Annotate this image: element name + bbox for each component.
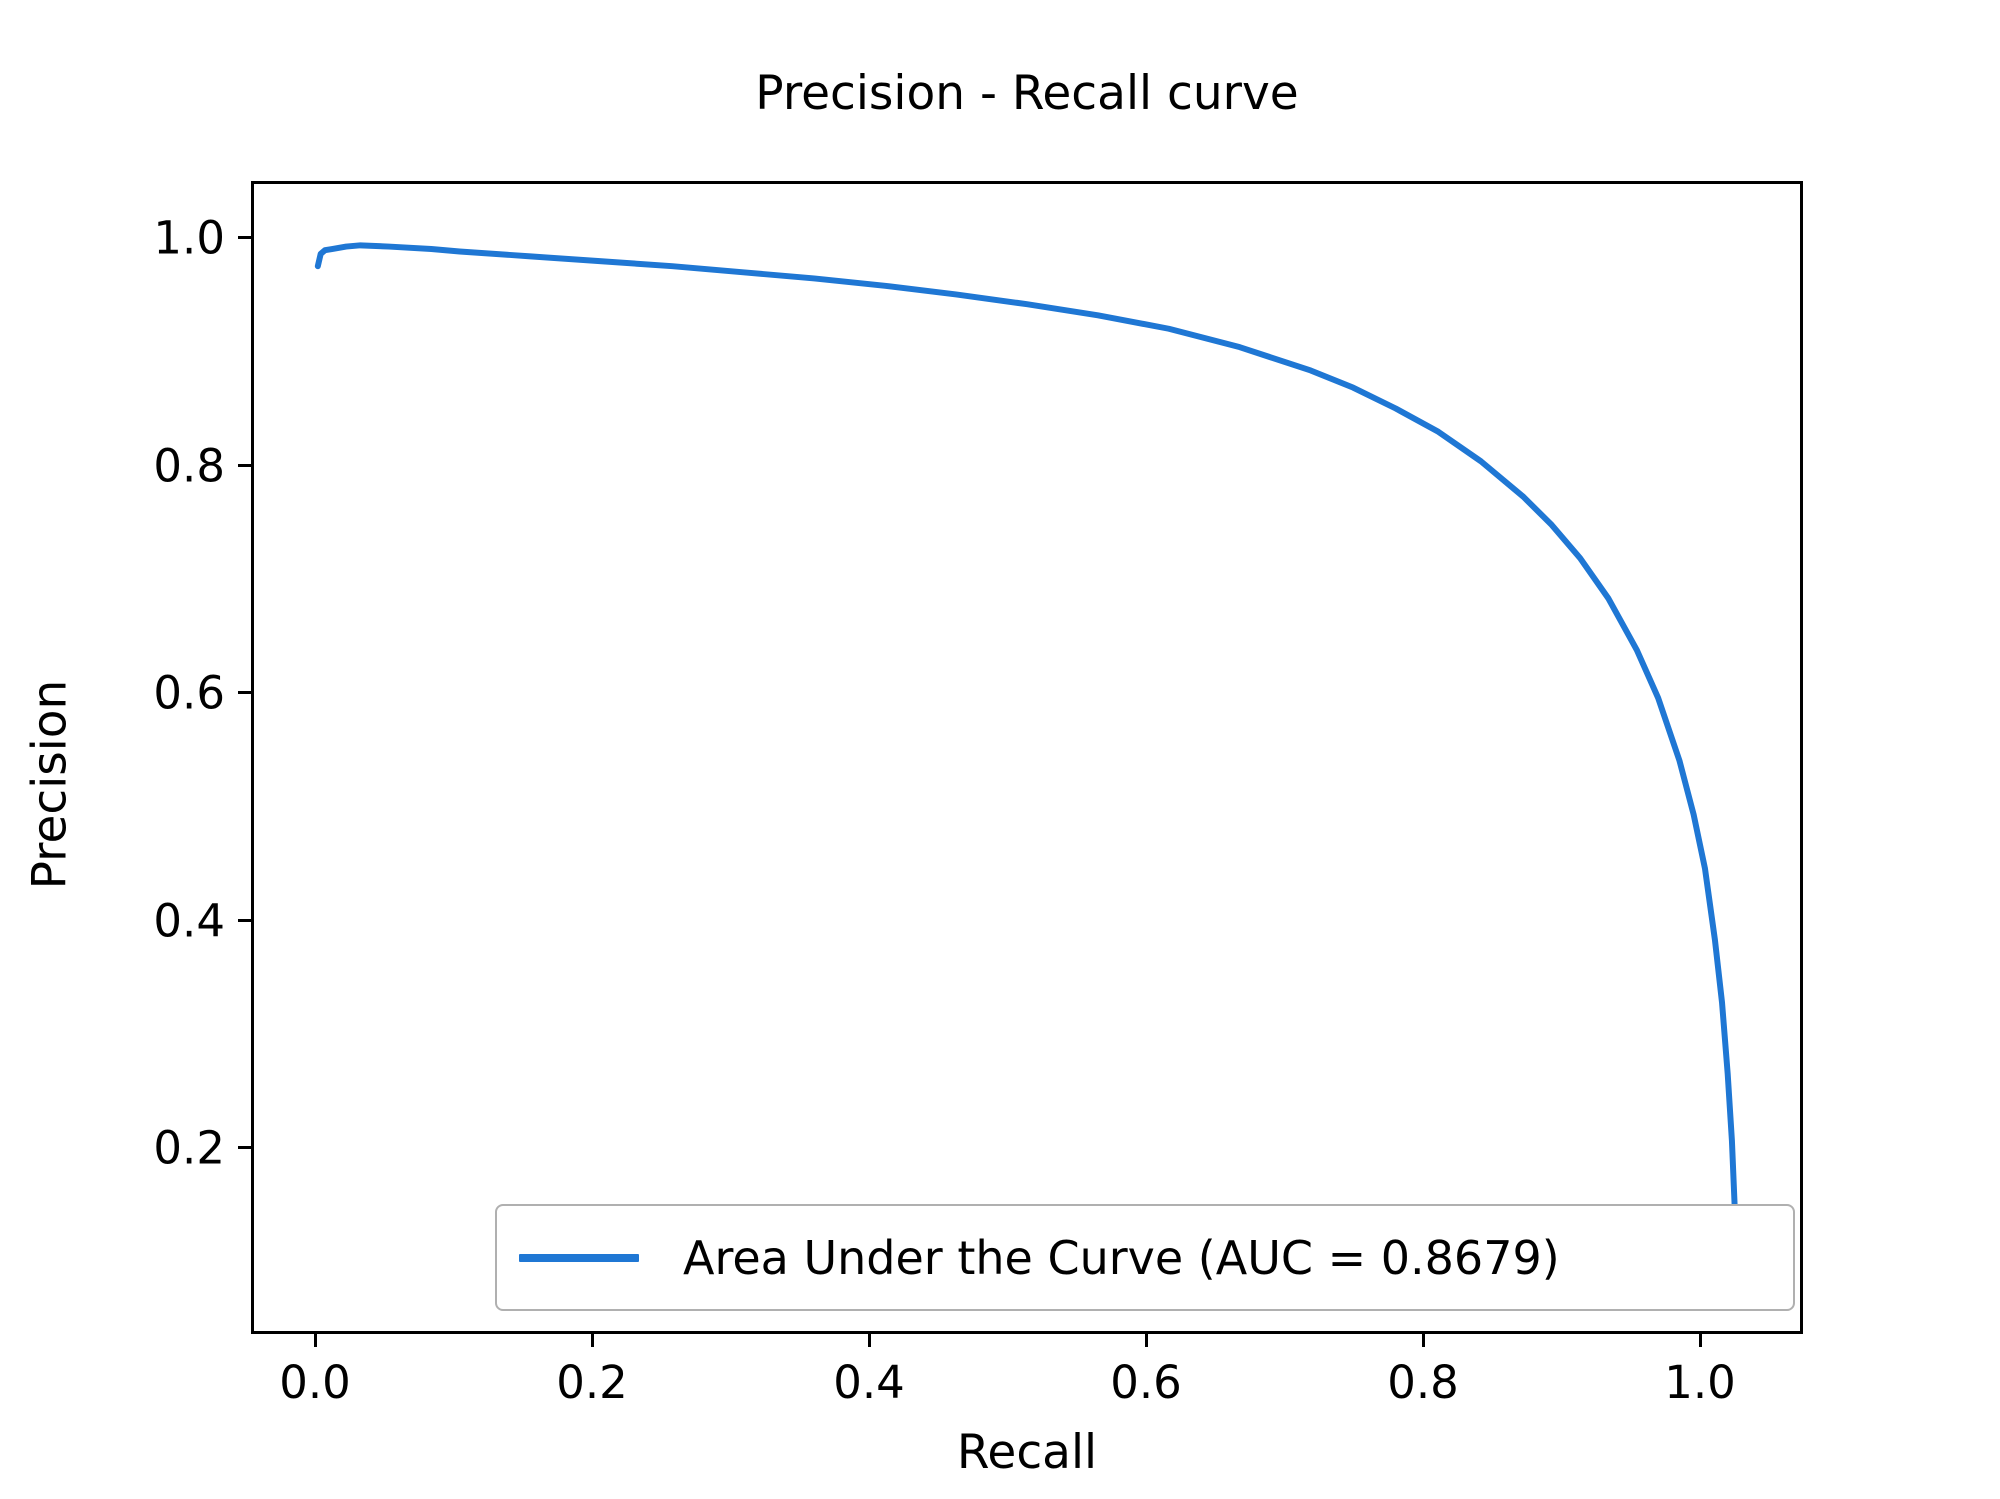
y-tick-mark-1: [238, 919, 251, 922]
precision-recall-chart-figure: Precision - Recall curve 0.0 0.2 0.4 0.6…: [0, 0, 2000, 1499]
x-tick-label-1: 0.2: [556, 1356, 628, 1409]
y-axis-label: Precision: [23, 585, 78, 985]
precision-recall-curve-svg: [254, 184, 1800, 1331]
y-tick-mark-0: [238, 1146, 251, 1149]
x-tick-label-4: 0.8: [1387, 1356, 1459, 1409]
x-tick-mark-5: [1699, 1334, 1702, 1347]
x-axis-label: Recall: [251, 1425, 1803, 1480]
y-tick-mark-3: [238, 464, 251, 467]
y-tick-label-4: 1.0: [153, 212, 225, 265]
x-tick-mark-4: [1422, 1334, 1425, 1347]
x-tick-mark-3: [1145, 1334, 1148, 1347]
chart-title: Precision - Recall curve: [251, 68, 1803, 120]
y-tick-mark-4: [238, 236, 251, 239]
x-tick-label-2: 0.4: [833, 1356, 905, 1409]
y-tick-label-3: 0.8: [153, 440, 225, 493]
y-tick-label-1: 0.4: [153, 895, 225, 948]
y-tick-mark-2: [238, 691, 251, 694]
chart-legend[interactable]: Area Under the Curve (AUC = 0.8679): [495, 1204, 1795, 1311]
x-tick-mark-1: [591, 1334, 594, 1347]
legend-entry-label: Area Under the Curve (AUC = 0.8679): [683, 1231, 1560, 1285]
legend-color-swatch: [519, 1254, 639, 1262]
x-tick-label-5: 1.0: [1664, 1356, 1736, 1409]
y-tick-label-0: 0.2: [153, 1122, 225, 1175]
x-tick-label-3: 0.6: [1110, 1356, 1182, 1409]
x-tick-mark-2: [868, 1334, 871, 1347]
y-tick-label-2: 0.6: [153, 667, 225, 720]
pr-curve-line: [318, 245, 1736, 1261]
plot-axes-area: [251, 181, 1803, 1334]
x-tick-label-0: 0.0: [279, 1356, 351, 1409]
x-tick-mark-0: [314, 1334, 317, 1347]
